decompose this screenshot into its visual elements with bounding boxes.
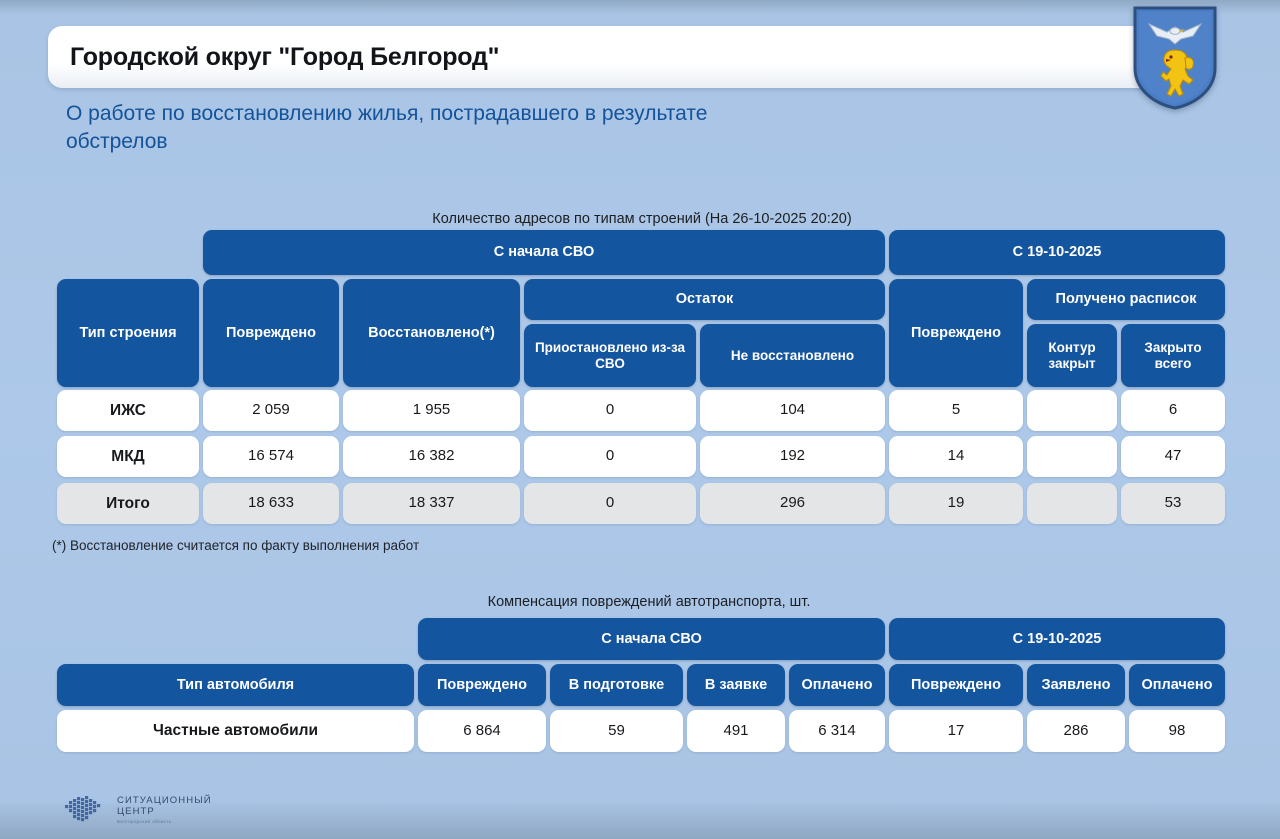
- table-cell-contour-closed: [1027, 436, 1117, 477]
- buildings-table-caption: Количество адресов по типам строений (На…: [420, 211, 864, 227]
- vehicles-group-since-svo: С начала СВО: [418, 618, 885, 660]
- footer-logo-line1: СИТУАЦИОННЫЙ: [117, 795, 212, 806]
- table-cell-restored: 18 337: [343, 483, 520, 524]
- footer-logo: СИТУАЦИОННЫЙ ЦЕНТР Белгородская область: [62, 793, 212, 827]
- vehicles-group-since-date: С 19-10-2025: [889, 618, 1225, 660]
- table-cell-damaged-week: 19: [889, 483, 1023, 524]
- page-subtitle: О работе по восстановлению жилья, постра…: [66, 100, 766, 156]
- buildings-group-receipts: Получено расписок: [1027, 279, 1225, 320]
- table-cell-in-request: 491: [687, 710, 785, 752]
- vehicles-col-declared-week: Заявлено: [1027, 664, 1125, 706]
- table-row: Частные автомобили: [57, 710, 414, 752]
- buildings-col-damaged-week: Повреждено: [889, 279, 1023, 387]
- table-row: МКД: [57, 436, 199, 477]
- vehicles-col-in-request: В заявке: [687, 664, 785, 706]
- table-cell-paid-week: 98: [1129, 710, 1225, 752]
- buildings-col-contour-closed: Контур закрыт: [1027, 324, 1117, 387]
- buildings-group-since-svo: С начала СВО: [203, 230, 885, 275]
- table-row-total: Итого: [57, 483, 199, 524]
- vehicles-table-caption: Компенсация повреждений автотранспорта, …: [469, 594, 829, 610]
- vehicles-col-type: Тип автомобиля: [57, 664, 414, 706]
- table-cell-damaged-week: 17: [889, 710, 1023, 752]
- vehicles-col-in-preparation: В подготовке: [550, 664, 683, 706]
- buildings-col-suspended: Приостановлено из-за СВО: [524, 324, 696, 387]
- table-cell-restored: 1 955: [343, 390, 520, 431]
- footer-logo-line3: Белгородская область: [117, 818, 212, 825]
- table-cell-damaged: 2 059: [203, 390, 339, 431]
- region-map-mark-icon: [62, 793, 108, 827]
- table-cell-closed-total: 53: [1121, 483, 1225, 524]
- table-cell-closed-total: 47: [1121, 436, 1225, 477]
- table-cell-damaged-week: 14: [889, 436, 1023, 477]
- table-cell-paid: 6 314: [789, 710, 885, 752]
- buildings-col-type: Тип строения: [57, 279, 199, 387]
- buildings-col-not-restored: Не восстановлено: [700, 324, 885, 387]
- table-cell-damaged: 18 633: [203, 483, 339, 524]
- table-cell-damaged: 6 864: [418, 710, 546, 752]
- page-title-bar: Городской округ "Город Белгород": [48, 26, 1183, 88]
- vehicles-col-damaged: Повреждено: [418, 664, 546, 706]
- buildings-group-ostatok: Остаток: [524, 279, 885, 320]
- buildings-group-since-date: С 19-10-2025: [889, 230, 1225, 275]
- table-cell-damaged-week: 5: [889, 390, 1023, 431]
- buildings-col-closed-total: Закрыто всего: [1121, 324, 1225, 387]
- buildings-col-restored: Восстановлено(*): [343, 279, 520, 387]
- table-cell-damaged: 16 574: [203, 436, 339, 477]
- table-cell-suspended: 0: [524, 483, 696, 524]
- page-title: Городской округ "Город Белгород": [48, 43, 499, 72]
- buildings-col-damaged: Повреждено: [203, 279, 339, 387]
- table-cell-contour-closed: [1027, 483, 1117, 524]
- footer-logo-line2: ЦЕНТР: [117, 806, 212, 817]
- table-cell-in-preparation: 59: [550, 710, 683, 752]
- table-row: ИЖС: [57, 390, 199, 431]
- table-cell-closed-total: 6: [1121, 390, 1225, 431]
- table-cell-suspended: 0: [524, 390, 696, 431]
- belgorod-coat-of-arms-icon: [1133, 6, 1217, 110]
- table-cell-suspended: 0: [524, 436, 696, 477]
- vehicles-col-paid: Оплачено: [789, 664, 885, 706]
- table-cell-contour-closed: [1027, 390, 1117, 431]
- buildings-table-footnote: (*) Восстановление считается по факту вы…: [52, 538, 419, 553]
- table-cell-not-restored: 296: [700, 483, 885, 524]
- vehicles-col-damaged-week: Повреждено: [889, 664, 1023, 706]
- table-cell-not-restored: 104: [700, 390, 885, 431]
- table-cell-not-restored: 192: [700, 436, 885, 477]
- vehicles-col-paid-week: Оплачено: [1129, 664, 1225, 706]
- table-cell-restored: 16 382: [343, 436, 520, 477]
- table-cell-declared-week: 286: [1027, 710, 1125, 752]
